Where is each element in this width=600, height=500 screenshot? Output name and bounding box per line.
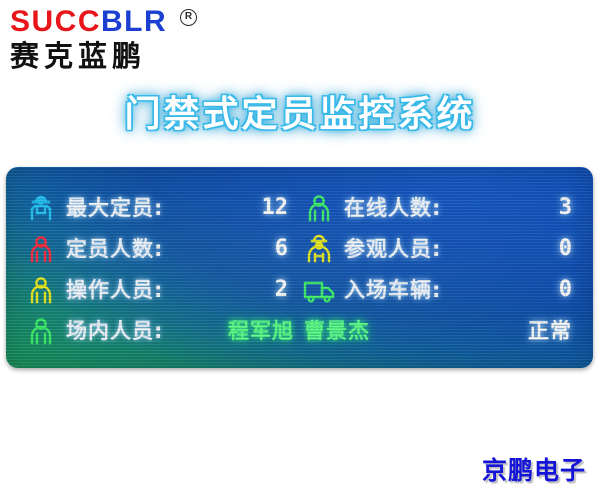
person-icon xyxy=(302,191,336,225)
page-title: 门禁式定员监控系统 xyxy=(0,92,600,138)
led-row-visitors: 参观人员: 0 xyxy=(302,228,588,269)
led-label: 场内人员: xyxy=(66,319,163,343)
led-row-designated-headcount: 定员人数: 6 xyxy=(24,228,310,269)
led-value: 2 xyxy=(275,278,288,302)
led-value: 3 xyxy=(559,196,572,220)
led-value: 0 xyxy=(559,237,572,261)
personnel-name: 曹景杰 xyxy=(304,319,370,343)
led-value: 6 xyxy=(275,237,288,261)
logo-wordmark-red: SUCC xyxy=(10,5,101,38)
logo-wordmark-blue: BLR xyxy=(101,5,167,38)
status-badge: 正常 xyxy=(528,319,572,343)
led-label: 入场车辆: xyxy=(344,278,441,302)
led-row-operators: 操作人员: 2 xyxy=(24,269,310,310)
led-right-column: 在线人数: 3 参观人员: 0 xyxy=(302,187,588,352)
person-hardhat-icon xyxy=(24,191,58,225)
person-icon xyxy=(24,314,58,348)
led-row-status: 曹景杰 正常 xyxy=(302,310,588,351)
led-label: 在线人数: xyxy=(344,196,441,220)
led-label: 定员人数: xyxy=(66,237,163,261)
led-value: 12 xyxy=(262,196,289,220)
led-left-column: 最大定员: 12 定员人数: 6 操作人员: xyxy=(24,187,310,352)
person-icon xyxy=(24,232,58,266)
led-label: 最大定员: xyxy=(66,196,163,220)
logo-wordmark: SUCCBLR xyxy=(10,6,167,38)
personnel-name: 程军旭 xyxy=(228,319,294,343)
led-label: 操作人员: xyxy=(66,278,163,302)
led-value: 0 xyxy=(559,278,572,302)
registered-trademark-icon: R xyxy=(180,9,197,26)
person-visitor-icon xyxy=(302,232,336,266)
footer-brand: 京鹏电子 xyxy=(482,456,586,486)
led-row-max-capacity: 最大定员: 12 xyxy=(24,187,310,228)
person-icon xyxy=(24,273,58,307)
truck-icon xyxy=(302,273,336,307)
company-logo: SUCCBLR R 赛克蓝鹏 xyxy=(8,6,223,76)
led-row-vehicles-entered: 入场车辆: 0 xyxy=(302,269,588,310)
led-display-panel: 最大定员: 12 定员人数: 6 操作人员: xyxy=(6,167,593,368)
led-label: 参观人员: xyxy=(344,237,441,261)
led-row-personnel-onsite: 场内人员: 程军旭 xyxy=(24,310,310,351)
led-row-online-count: 在线人数: 3 xyxy=(302,187,588,228)
logo-chinese-name: 赛克蓝鹏 xyxy=(10,39,146,73)
